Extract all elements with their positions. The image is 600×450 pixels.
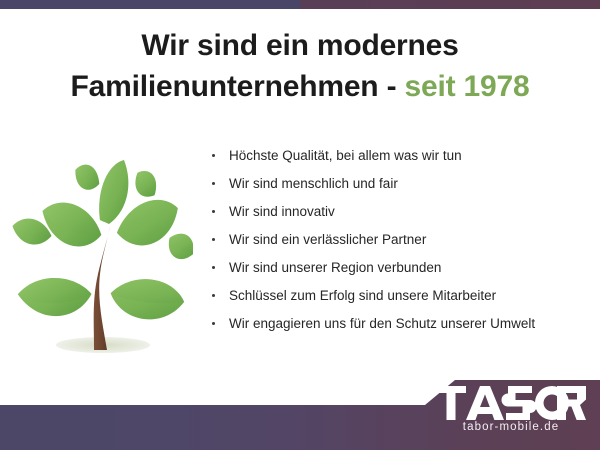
list-item: Wir sind menschlich und fair: [208, 170, 600, 198]
brand-logo[interactable]: tabor-mobile.de: [436, 386, 586, 433]
list-item: Schlüssel zum Erfolg sind unsere Mitarbe…: [208, 282, 600, 310]
page-title-line-2-main: Familienunternehmen -: [71, 70, 405, 103]
bullet-dot-icon: [212, 238, 215, 241]
list-item: Höchste Qualität, bei allem was wir tun: [208, 142, 600, 170]
page-title-accent: seit 1978: [405, 70, 530, 103]
list-item-label: Wir sind unserer Region verbunden: [229, 260, 441, 275]
page-title-line-2: Familienunternehmen - seit 1978: [0, 67, 600, 108]
top-accent-bar: [0, 0, 600, 9]
bullet-dot-icon: [212, 210, 215, 213]
bullet-dot-icon: [212, 154, 215, 157]
list-item-label: Wir sind innovativ: [229, 204, 335, 219]
list-item-label: Wir sind menschlich und fair: [229, 176, 398, 191]
tree-icon: [8, 148, 193, 360]
bullet-dot-icon: [212, 266, 215, 269]
top-accent-bar-right: [300, 0, 600, 9]
tree-leaves: [12, 160, 193, 325]
top-accent-bar-left: [0, 0, 300, 9]
brand-logo-wordmark: [436, 386, 586, 420]
list-item-label: Wir engagieren uns für den Schutz unsere…: [229, 316, 535, 331]
list-item: Wir engagieren uns für den Schutz unsere…: [208, 310, 600, 338]
tree-trunk: [94, 226, 110, 350]
list-item: Wir sind unserer Region verbunden: [208, 254, 600, 282]
list-item-label: Schlüssel zum Erfolg sind unsere Mitarbe…: [229, 288, 496, 303]
tree-illustration: [8, 148, 193, 360]
value-list: Höchste Qualität, bei allem was wir tun …: [208, 142, 600, 338]
tabor-wordmark-icon: [436, 386, 586, 420]
brand-logo-url: tabor-mobile.de: [436, 421, 586, 433]
list-item: Wir sind innovativ: [208, 198, 600, 226]
list-item-label: Wir sind ein verlässlicher Partner: [229, 232, 426, 247]
page-title-line-1: Wir sind ein modernes: [0, 26, 600, 67]
footer-bar: tabor-mobile.de: [0, 372, 600, 450]
slide-canvas: Wir sind ein modernes Familienunternehme…: [0, 0, 600, 450]
page-title: Wir sind ein modernes Familienunternehme…: [0, 26, 600, 108]
list-item-label: Höchste Qualität, bei allem was wir tun: [229, 148, 462, 163]
bullet-dot-icon: [212, 294, 215, 297]
bullet-dot-icon: [212, 322, 215, 325]
list-item: Wir sind ein verlässlicher Partner: [208, 226, 600, 254]
bullet-dot-icon: [212, 182, 215, 185]
